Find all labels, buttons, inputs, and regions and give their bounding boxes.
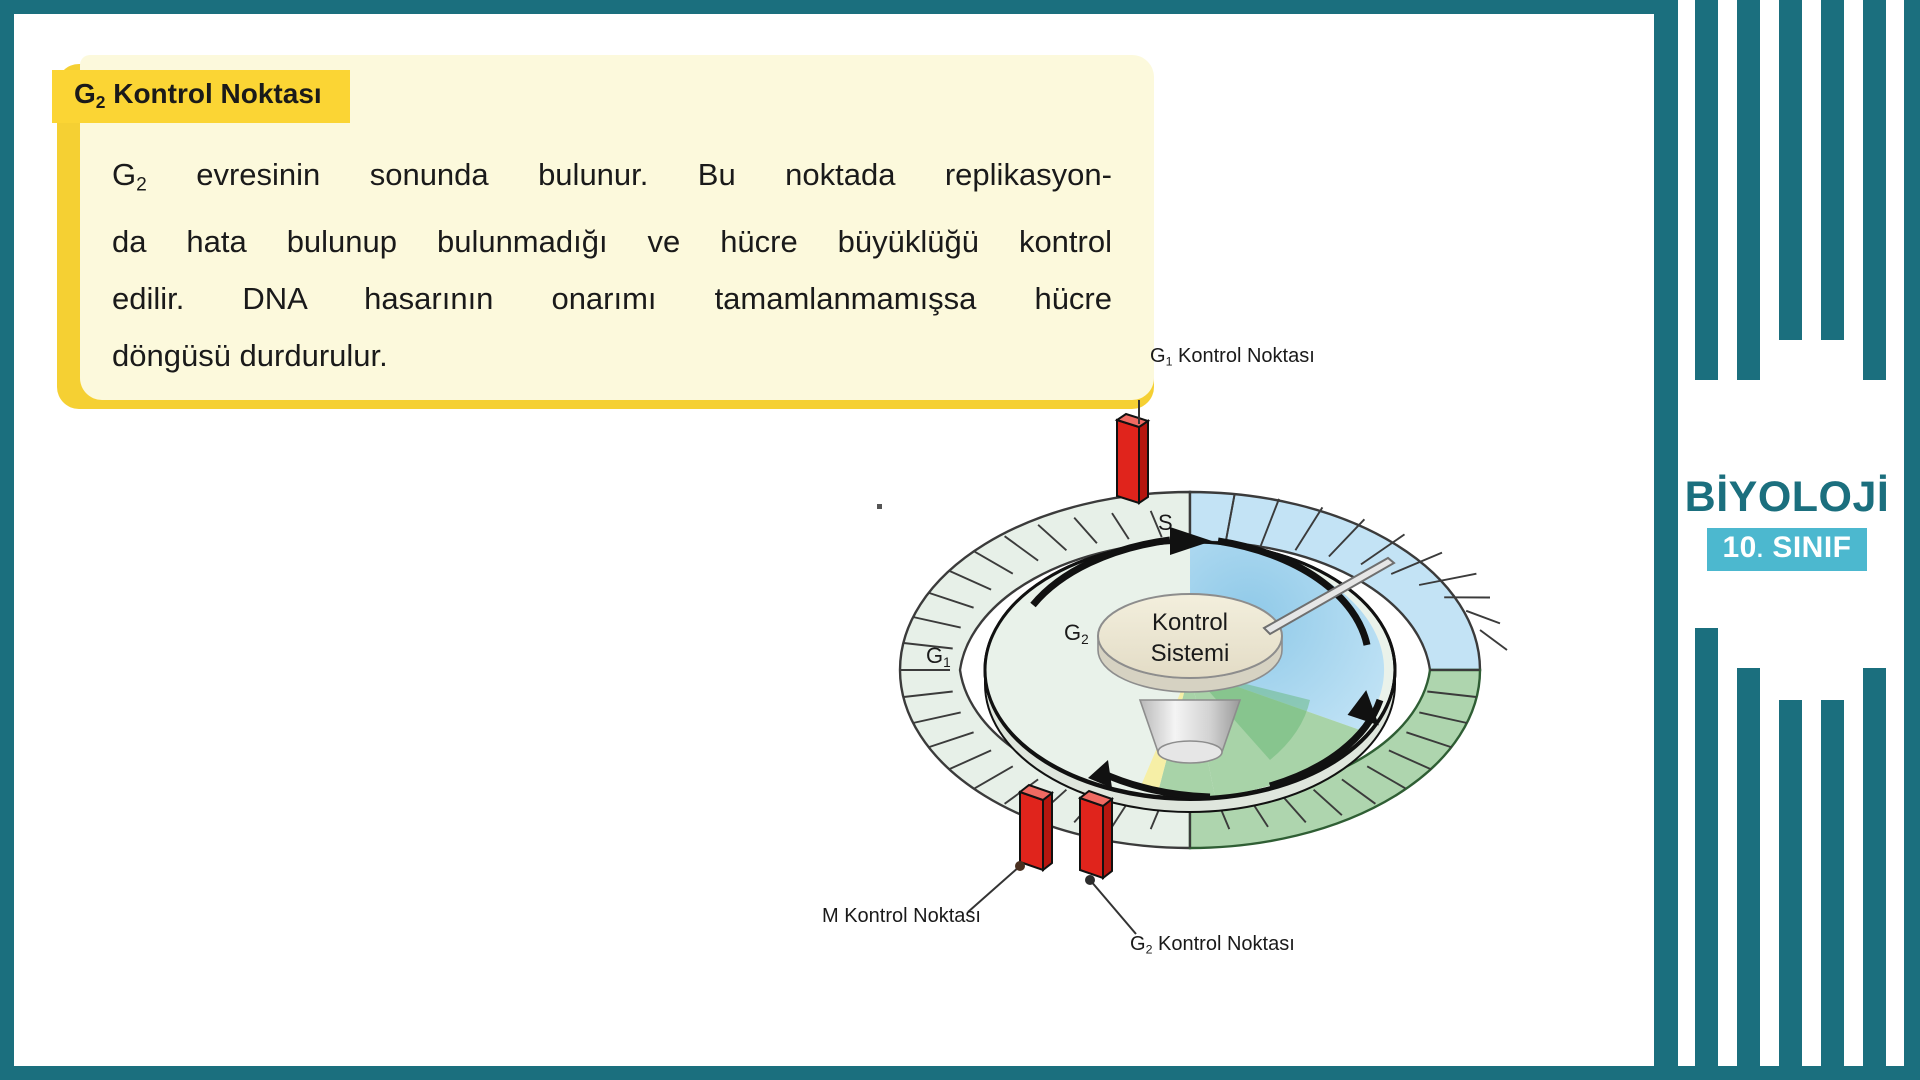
info-card-body: G2 evresinin sonunda bulunur. Bu noktada… <box>112 146 1112 384</box>
body-line-4: döngüsü durdurulur. <box>112 327 1112 384</box>
phase-g2-sub: 2 <box>1081 632 1089 647</box>
frame-left-border <box>0 0 14 1080</box>
decor-bar <box>1737 0 1760 380</box>
grade-badge: 10. SINIF <box>1707 528 1866 571</box>
label-m-checkpoint: M Kontrol Noktası <box>822 905 981 928</box>
decor-bar <box>1863 668 1886 1080</box>
body-prefix: G <box>112 157 136 192</box>
frame-top-border <box>0 0 1654 14</box>
grade-dot: . <box>1757 537 1764 562</box>
decor-bar <box>1779 700 1802 1080</box>
phase-g1-prefix: G <box>926 643 943 668</box>
hub-label-line2: Sistemi <box>1125 639 1255 670</box>
leader-line-g2 <box>1090 880 1136 934</box>
decor-bar <box>1863 0 1886 380</box>
leader-dot-m <box>1015 861 1025 871</box>
leader-dot-g2 <box>1085 875 1095 885</box>
brand-logo: BİYOLOJİ 10. SINIF <box>1654 476 1920 571</box>
grade-label: SINIF <box>1772 531 1851 564</box>
label-g1-rest: Kontrol Noktası <box>1178 345 1315 367</box>
decor-bar <box>1821 0 1844 340</box>
card-title-main: Kontrol Noktası <box>113 78 321 109</box>
info-card-title: G2 Kontrol Noktası <box>52 70 350 123</box>
checkpoint-flag-g2 <box>1080 791 1112 878</box>
body-prefix-sub: 2 <box>136 174 147 195</box>
decor-bar <box>1737 668 1760 1080</box>
label-g1-sub: 1 <box>1166 354 1173 368</box>
frame-bottom-border <box>0 1066 1654 1080</box>
hub-label: Kontrol Sistemi <box>1125 608 1255 669</box>
label-g2-prefix: G <box>1130 933 1146 955</box>
decor-bar-bottom <box>1654 1066 1920 1080</box>
decor-bar <box>1695 0 1718 380</box>
grade-number: 10 <box>1722 531 1756 564</box>
label-g1-checkpoint: G1 Kontrol Noktası <box>1150 345 1315 368</box>
label-g2-sub: 2 <box>1146 942 1153 956</box>
body-line-3: edilir. DNA hasarının onarımı tamamlanma… <box>112 270 1112 327</box>
body-line-1: G2 evresinin sonunda bulunur. Bu noktada… <box>112 146 1112 213</box>
brand-title: BİYOLOJİ <box>1654 476 1920 519</box>
slide-page: BİYOLOJİ 10. SINIF G2 Kontrol Noktası G2… <box>0 0 1920 1080</box>
phase-s-text: S <box>1158 510 1173 535</box>
checkpoint-flag-m <box>1020 785 1052 870</box>
card-title-prefix: G <box>74 78 96 109</box>
body-line-1-text: evresinin sonunda bulunur. Bu noktada re… <box>196 157 1112 192</box>
decor-bar <box>1695 628 1718 1080</box>
phase-label-s: S <box>1158 510 1173 536</box>
cell-cycle-diagram: Kontrol Sistemi G1 S G2 G1 Kontrol Nokta… <box>840 400 1540 980</box>
checkpoint-flag-g1 <box>1117 400 1148 503</box>
phase-g1-sub: 1 <box>943 655 951 670</box>
card-title-sub: 2 <box>96 92 106 112</box>
phase-label-g2: G2 <box>1064 620 1089 647</box>
label-g1-prefix: G <box>1150 345 1166 367</box>
decor-bar <box>1821 700 1844 1080</box>
cell-cycle-svg <box>840 400 1540 980</box>
phase-g2-prefix: G <box>1064 620 1081 645</box>
label-g2-checkpoint: G2 Kontrol Noktası <box>1130 933 1295 956</box>
decor-bar <box>1779 0 1802 340</box>
phase-label-g1: G1 <box>926 643 951 670</box>
body-line-2: da hata bulunup bulunmadığı ve hücre büy… <box>112 213 1112 270</box>
hub-label-line1: Kontrol <box>1125 608 1255 639</box>
label-g2-rest: Kontrol Noktası <box>1158 933 1295 955</box>
